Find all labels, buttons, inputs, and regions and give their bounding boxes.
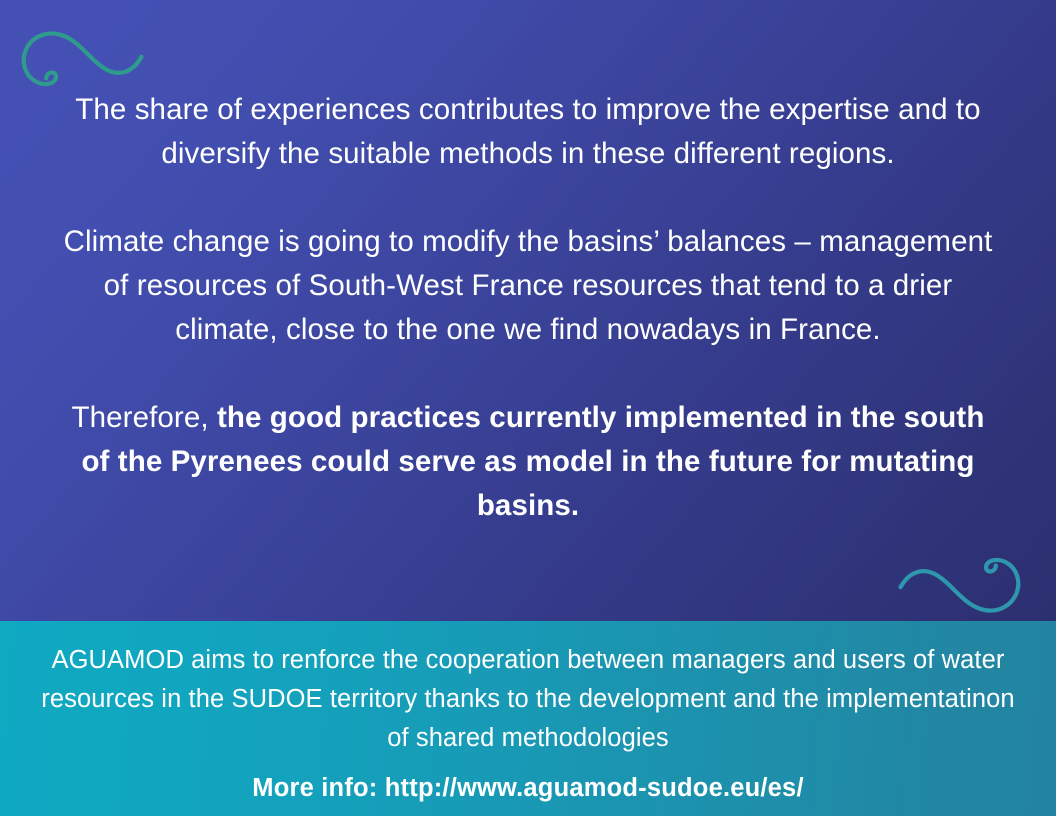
slide-body: The share of experiences contributes to … bbox=[0, 0, 1056, 621]
body-paragraph-1: The share of experiences contributes to … bbox=[56, 88, 1000, 176]
body-paragraph-3-emphasis: the good practices currently implemented… bbox=[81, 401, 984, 522]
body-paragraph-3-lead: Therefore, bbox=[72, 401, 217, 434]
body-paragraph-2: Climate change is going to modify the ba… bbox=[56, 220, 1000, 352]
footer-band: AGUAMOD aims to renforce the cooperation… bbox=[0, 621, 1056, 816]
footer-description: AGUAMOD aims to renforce the cooperation… bbox=[40, 641, 1016, 758]
body-paragraph-3: Therefore, the good practices currently … bbox=[56, 396, 1000, 528]
footer-more-info-link[interactable]: More info: http://www.aguamod-sudoe.eu/e… bbox=[40, 769, 1016, 808]
presentation-slide: The share of experiences contributes to … bbox=[0, 0, 1056, 816]
